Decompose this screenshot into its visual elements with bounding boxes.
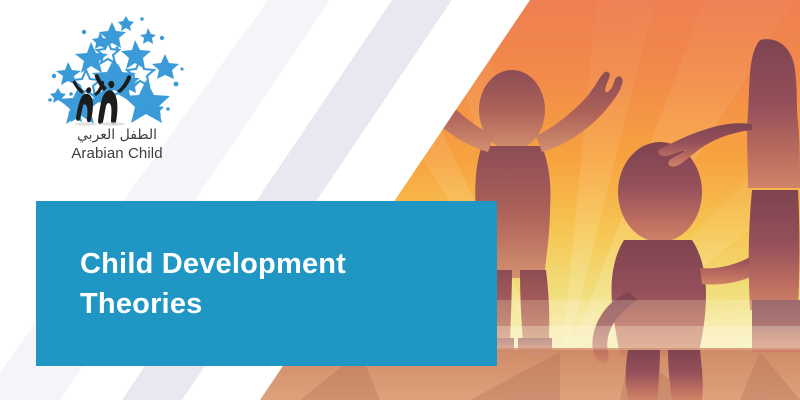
logo-wordmark: الطفل العربي Arabian Child [42,126,192,163]
logo-arabic-name: الطفل العربي [42,126,192,144]
title-line-1: Child Development [80,244,497,284]
arabian-child-logo[interactable]: الطفل العربي Arabian Child [42,14,192,166]
title-banner: Child Development Theories [36,201,497,366]
stars-tree-icon [42,14,192,126]
title-line-2: Theories [80,284,497,324]
banner-root: الطفل العربي Arabian Child Child Develop… [0,0,800,400]
logo-latin-name: Arabian Child [42,144,192,163]
